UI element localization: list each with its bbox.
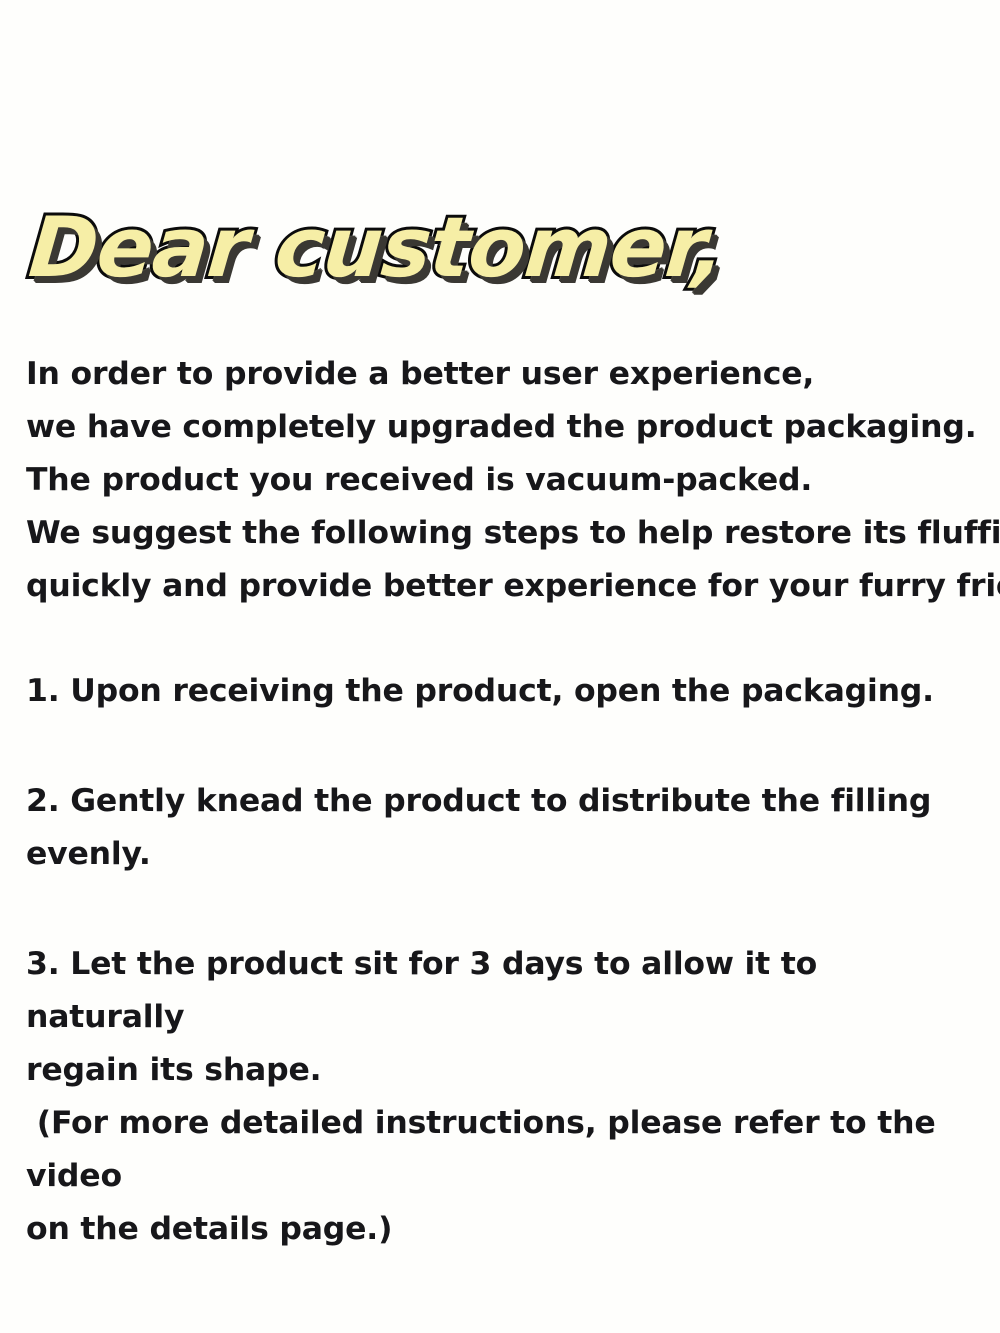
step-line: 3. Let the product sit for 3 days to all… [26,938,982,1044]
intro-line: quickly and provide better experience fo… [26,560,982,613]
intro-paragraph: In order to provide a better user experi… [26,348,982,613]
step-item-3: 3. Let the product sit for 3 days to all… [26,938,982,1256]
step-line: 1. Upon receiving the product, open the … [26,665,982,718]
spacer [26,613,982,665]
intro-line: we have completely upgraded the product … [26,401,982,454]
step-line: 2. Gently knead the product to distribut… [26,775,982,881]
intro-line: The product you received is vacuum-packe… [26,454,982,507]
step-line: regain its shape. [26,1044,982,1097]
spacer [26,718,982,775]
notice-body: In order to provide a better user experi… [26,348,982,1256]
step-item-2: 2. Gently knead the product to distribut… [26,775,982,881]
notice-page: Dear customer, In order to provide a bet… [0,0,1000,1333]
intro-line: In order to provide a better user experi… [26,348,982,401]
intro-line: We suggest the following steps to help r… [26,507,982,560]
step-line: (For more detailed instructions, please … [26,1097,982,1203]
step-line: on the details page.) [26,1203,982,1256]
page-title: Dear customer, [26,206,728,289]
heading-container: Dear customer, [26,206,720,310]
step-item-1: 1. Upon receiving the product, open the … [26,665,982,718]
spacer [26,881,982,938]
